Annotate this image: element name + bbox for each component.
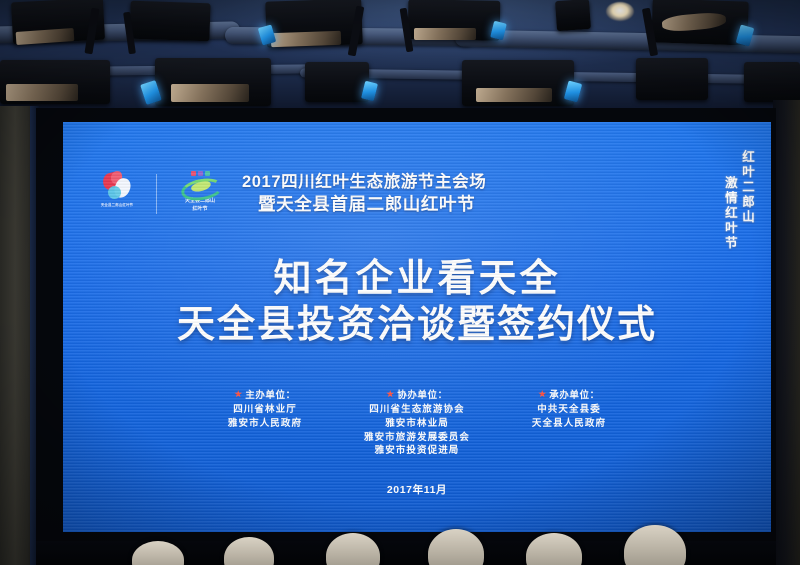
organizer-entity: 四川省生态旅游协会 (369, 403, 464, 417)
organizer-column: 主办单位： 四川省林业厅 雅安市人民政府 (209, 387, 321, 431)
stage-photo-scene: 天全县二郎山红叶节 天全县二郎山 红叶节 2017四川红叶生态旅游节主会场 暨天… (0, 0, 800, 565)
event-date: 2017年11月 (63, 482, 771, 497)
organizer-heading: 协办单位： (386, 387, 448, 401)
leaf-logo-caption-line2: 红叶节 (192, 206, 207, 213)
leaf-swoosh-icon (180, 177, 220, 197)
organizer-role: 协办单位： (397, 387, 448, 401)
logo-pair: 天全县二郎山红叶节 天全县二郎山 红叶节 (97, 171, 224, 217)
star-icon (386, 390, 394, 398)
organizer-column: 协办单位： 四川省生态旅游协会 雅安市林业局 雅安市旅游发展委员会 雅安市投资促… (361, 387, 473, 458)
organizer-entity: 雅安市投资促进局 (375, 444, 460, 458)
main-title-line-2: 天全县投资洽谈暨签约仪式 (63, 303, 771, 349)
white-spotlight (606, 2, 634, 21)
organizer-role: 主办单位： (245, 387, 296, 401)
organizer-entity: 雅安市人民政府 (228, 417, 302, 431)
organizer-columns: 主办单位： 四川省林业厅 雅安市人民政府 协办单位： 四川省生态旅游协会 雅安市… (63, 387, 771, 458)
banner-line-1: 2017四川红叶生态旅游节主会场 (242, 172, 486, 193)
organizer-entity: 四川省林业厅 (233, 403, 297, 417)
organizer-entity: 中共天全县委 (537, 403, 601, 417)
organizer-entity: 雅安市林业局 (385, 417, 449, 431)
star-icon (234, 390, 242, 398)
flame-icon (102, 171, 133, 201)
right-wall (773, 100, 800, 565)
leaf-swoosh-logo: 天全县二郎山 红叶节 (176, 171, 224, 217)
logo-divider (156, 174, 157, 214)
organizer-role: 承办单位： (549, 387, 600, 401)
audience-head (224, 537, 274, 565)
audience-silhouettes (36, 519, 776, 565)
main-title-line-1: 知名企业看天全 (63, 257, 771, 302)
led-screen: 天全县二郎山红叶节 天全县二郎山 红叶节 2017四川红叶生态旅游节主会场 暨天… (63, 122, 771, 532)
audience-head (326, 533, 380, 565)
calligraphy-column-2: 激情红叶节 (723, 176, 736, 251)
main-title: 知名企业看天全 天全县投资洽谈暨签约仪式 (63, 257, 771, 348)
organizer-heading: 承办单位： (538, 387, 600, 401)
leaf-dots-icon (191, 171, 210, 176)
audience-head (428, 529, 484, 565)
screen-header: 天全县二郎山红叶节 天全县二郎山 红叶节 2017四川红叶生态旅游节主会场 暨天… (97, 162, 737, 226)
organizer-entity: 雅安市旅游发展委员会 (364, 431, 470, 445)
star-icon (538, 390, 546, 398)
calligraphy-column-1: 红叶二郎山 (740, 150, 753, 251)
flame-logo-caption: 天全县二郎山红叶节 (101, 203, 133, 207)
audience-head (526, 533, 582, 565)
flame-emblem-logo: 天全县二郎山红叶节 (97, 171, 137, 217)
audience-head (132, 541, 184, 565)
organizer-entity: 天全县人民政府 (532, 417, 606, 431)
banner-line-2: 暨天全县首届二郎山红叶节 (258, 193, 486, 216)
banner-text: 2017四川红叶生态旅游节主会场 暨天全县首届二郎山红叶节 (242, 172, 486, 216)
organizer-column: 承办单位： 中共天全县委 天全县人民政府 (513, 387, 625, 431)
calligraphy-block: 红叶二郎山 激情红叶节 (723, 150, 753, 251)
audience-head (624, 525, 686, 565)
organizer-heading: 主办单位： (234, 387, 296, 401)
